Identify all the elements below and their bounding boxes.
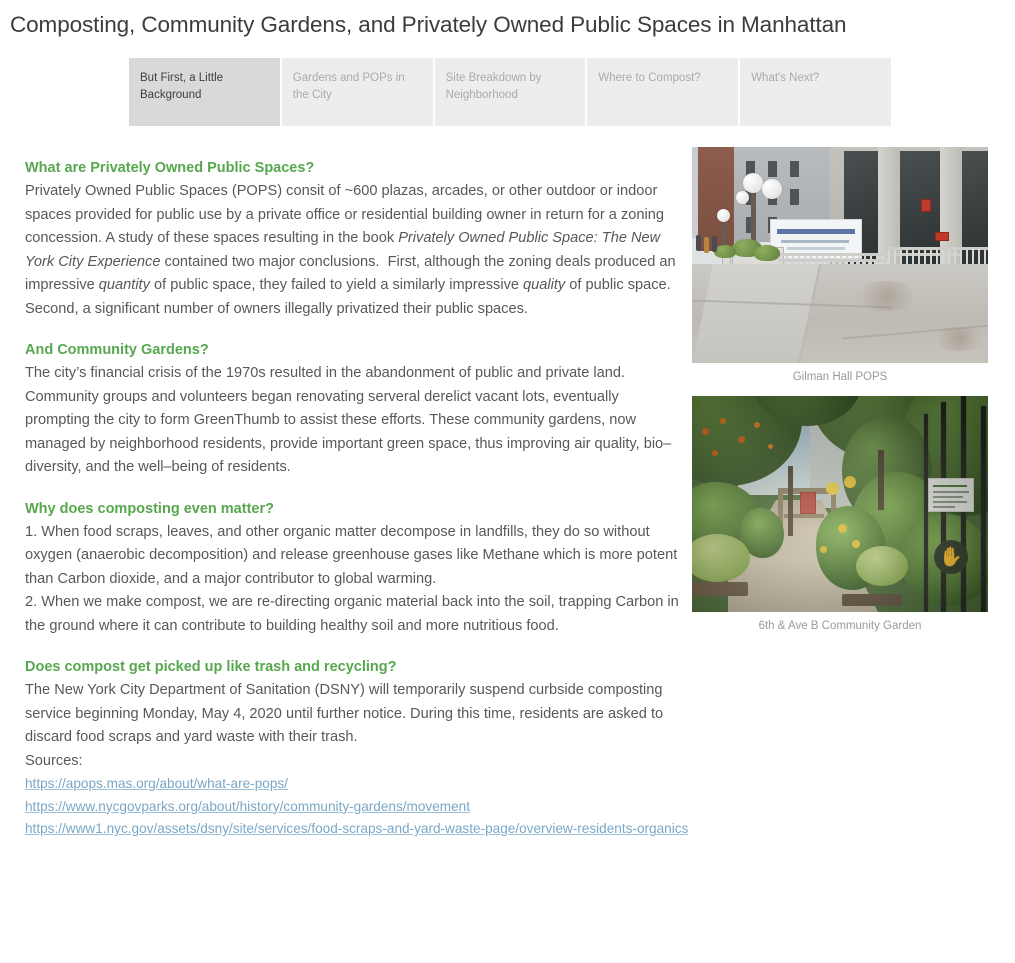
section-community-gardens: And Community Gardens? The city’s financ… (25, 340, 680, 480)
dashboard-page: Composting, Community Gardens, and Priva… (0, 0, 1015, 963)
photo-gilman-hall-pops (692, 147, 988, 363)
page-title: Composting, Community Gardens, and Priva… (10, 12, 1000, 38)
section-body: The New York City Department of Sanitati… (25, 679, 680, 750)
tab-label: Gardens and POPs in the City (293, 72, 405, 101)
source-link-apops[interactable]: https://apops.mas.org/about/what-are-pop… (25, 773, 680, 796)
section-curbside-pickup: Does compost get picked up like trash an… (25, 657, 680, 841)
tab-where-to-compost[interactable]: Where to Compost? (587, 58, 738, 126)
section-body: 1. When food scraps, leaves, and other o… (25, 521, 680, 639)
section-body: Privately Owned Public Spaces (POPS) con… (25, 180, 680, 321)
source-link-nycgovparks[interactable]: https://www.nycgovparks.org/about/histor… (25, 796, 680, 819)
sources-label: Sources: (25, 750, 680, 774)
photo-6th-and-ave-b-community-garden: ✋ (692, 396, 988, 612)
section-heading: Does compost get picked up like trash an… (25, 657, 680, 678)
section-heading: What are Privately Owned Public Spaces? (25, 158, 680, 179)
figure-caption: Gilman Hall POPS (692, 363, 988, 385)
tab-whats-next[interactable]: What's Next? (740, 58, 891, 126)
text-content-column: What are Privately Owned Public Spaces? … (25, 158, 680, 841)
section-heading: Why does composting even matter? (25, 499, 680, 520)
tab-label: But First, a Little Background (140, 72, 223, 101)
tab-bar: But First, a Little Background Gardens a… (129, 58, 891, 126)
section-why-composting-matters: Why does composting even matter? 1. When… (25, 499, 680, 639)
tab-but-first-a-little-background[interactable]: But First, a Little Background (129, 58, 280, 126)
source-link-dsny[interactable]: https://www1.nyc.gov/assets/dsny/site/se… (25, 818, 680, 841)
tab-label: Where to Compost? (598, 72, 700, 84)
figure-gilman-hall-pops: Gilman Hall POPS (692, 147, 988, 385)
section-heading: And Community Gardens? (25, 340, 680, 361)
figure-community-garden: ✋ 6th & Ave B Community Garden (692, 396, 988, 634)
tab-site-breakdown-by-neighborhood[interactable]: Site Breakdown by Neighborhood (435, 58, 586, 126)
tab-gardens-and-pops-in-the-city[interactable]: Gardens and POPs in the City (282, 58, 433, 126)
tab-label: What's Next? (751, 72, 819, 84)
tab-label: Site Breakdown by Neighborhood (446, 72, 542, 101)
figure-caption: 6th & Ave B Community Garden (692, 612, 988, 634)
section-what-are-pops: What are Privately Owned Public Spaces? … (25, 158, 680, 321)
section-body: The city’s financial crisis of the 1970s… (25, 362, 680, 480)
